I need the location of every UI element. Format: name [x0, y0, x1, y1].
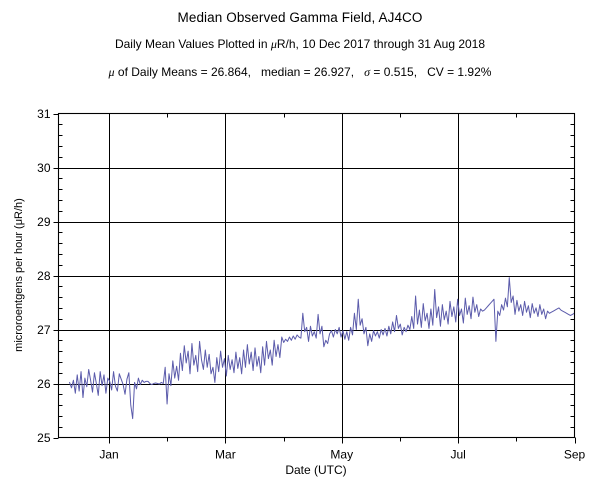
series-line	[70, 278, 575, 419]
x-axis-tick-labels: JanMarMayJulSep	[99, 448, 585, 462]
grid-lines	[59, 114, 575, 438]
x-tick-label: Jan	[99, 448, 118, 462]
plot-area-wrapper: 25262728293031 JanMarMayJulSep microroen…	[0, 0, 600, 496]
y-axis-title: microroentgens per hour (μR/h)	[13, 198, 25, 352]
chart-page: Median Observed Gamma Field, AJ4CO Daily…	[0, 0, 600, 496]
y-tick-label: 28	[37, 269, 51, 283]
y-tick-label: 27	[37, 323, 51, 337]
x-tick-label: Jul	[450, 448, 465, 462]
y-tick-label: 26	[37, 377, 51, 391]
x-axis-title: Date (UTC)	[285, 463, 346, 477]
y-axis-tick-labels: 25262728293031	[37, 107, 51, 445]
y-tick-label: 30	[37, 161, 51, 175]
y-tick-label: 25	[37, 431, 51, 445]
x-tick-label: Sep	[564, 448, 586, 462]
plot-frame	[59, 114, 575, 438]
data-series	[70, 278, 575, 419]
y-tick-label: 29	[37, 215, 51, 229]
x-tick-label: May	[330, 448, 353, 462]
x-tick-label: Mar	[215, 448, 236, 462]
gamma-field-line-chart: 25262728293031 JanMarMayJulSep microroen…	[0, 0, 600, 496]
y-tick-label: 31	[37, 107, 51, 121]
